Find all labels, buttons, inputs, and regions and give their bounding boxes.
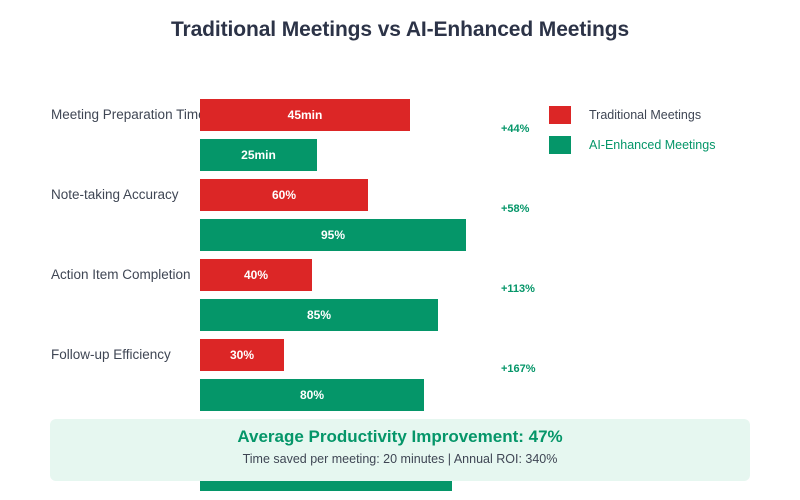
bar-traditional[interactable]: 40% <box>200 259 312 291</box>
bar-value-traditional: 45min <box>288 108 323 122</box>
improvement-label: +167% <box>501 363 536 375</box>
bar-value-ai-enhanced: 25min <box>241 148 276 162</box>
chart-legend: Traditional Meetings AI-Enhanced Meeting… <box>549 100 789 160</box>
bar-ai-enhanced[interactable]: 80% <box>200 379 424 411</box>
improvement-label: +44% <box>501 123 529 135</box>
legend-swatch-traditional <box>549 106 571 124</box>
chart-root: Traditional Meetings vs AI-Enhanced Meet… <box>0 0 800 500</box>
bar-group: Follow-up Efficiency30%80%+167% <box>0 339 800 419</box>
bar-value-ai-enhanced: 80% <box>300 388 324 402</box>
category-label: Follow-up Efficiency <box>51 339 171 371</box>
legend-label-traditional: Traditional Meetings <box>589 108 701 122</box>
bar-value-traditional: 60% <box>272 188 296 202</box>
summary-subtext: Time saved per meeting: 20 minutes | Ann… <box>50 452 750 466</box>
bar-group: Action Item Completion40%85%+113% <box>0 259 800 339</box>
category-label: Meeting Preparation Time <box>51 99 206 131</box>
summary-callout: Average Productivity Improvement: 47% Ti… <box>50 419 750 481</box>
bar-value-traditional: 30% <box>230 348 254 362</box>
bar-value-ai-enhanced: 85% <box>307 308 331 322</box>
bar-group: Note-taking Accuracy60%95%+58% <box>0 179 800 259</box>
bar-traditional[interactable]: 60% <box>200 179 368 211</box>
improvement-label: +58% <box>501 203 529 215</box>
bar-traditional[interactable]: 30% <box>200 339 284 371</box>
legend-label-ai-enhanced: AI-Enhanced Meetings <box>589 138 715 152</box>
bar-value-traditional: 40% <box>244 268 268 282</box>
legend-item-traditional[interactable]: Traditional Meetings <box>549 100 789 130</box>
bar-ai-enhanced[interactable]: 25min <box>200 139 317 171</box>
bar-value-ai-enhanced: 95% <box>321 228 345 242</box>
summary-headline: Average Productivity Improvement: 47% <box>50 427 750 447</box>
category-label: Note-taking Accuracy <box>51 179 179 211</box>
bar-ai-enhanced[interactable]: 85% <box>200 299 438 331</box>
legend-swatch-ai-enhanced <box>549 136 571 154</box>
category-label: Action Item Completion <box>51 259 191 291</box>
improvement-label: +113% <box>501 283 535 295</box>
legend-item-ai-enhanced[interactable]: AI-Enhanced Meetings <box>549 130 789 160</box>
bar-traditional[interactable]: 45min <box>200 99 410 131</box>
bar-ai-enhanced[interactable]: 95% <box>200 219 466 251</box>
